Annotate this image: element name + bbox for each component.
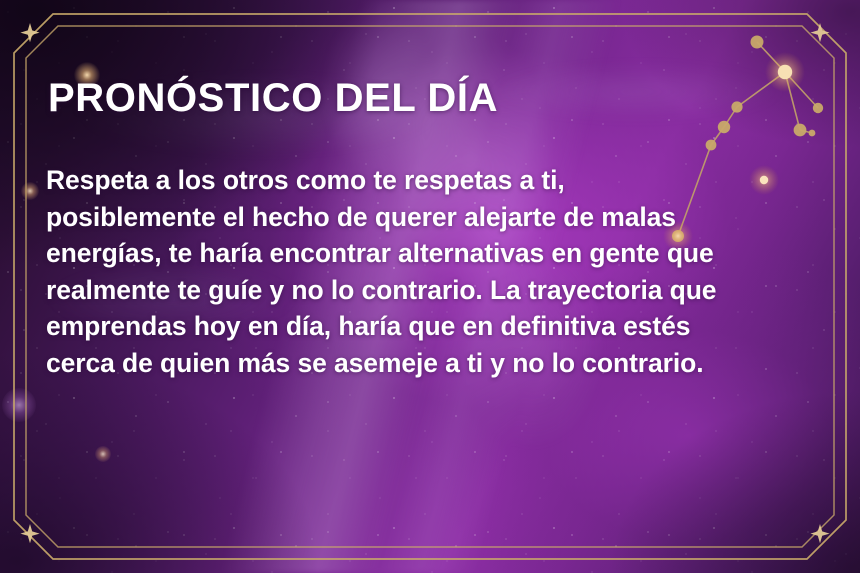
- horoscope-forecast-card: PRONÓSTICO DEL DÍA Respeta a los otros c…: [0, 0, 860, 573]
- card-content: PRONÓSTICO DEL DÍA Respeta a los otros c…: [46, 78, 814, 381]
- page-title: PRONÓSTICO DEL DÍA: [48, 78, 814, 118]
- forecast-body-text: Respeta a los otros como te respetas a t…: [46, 162, 736, 381]
